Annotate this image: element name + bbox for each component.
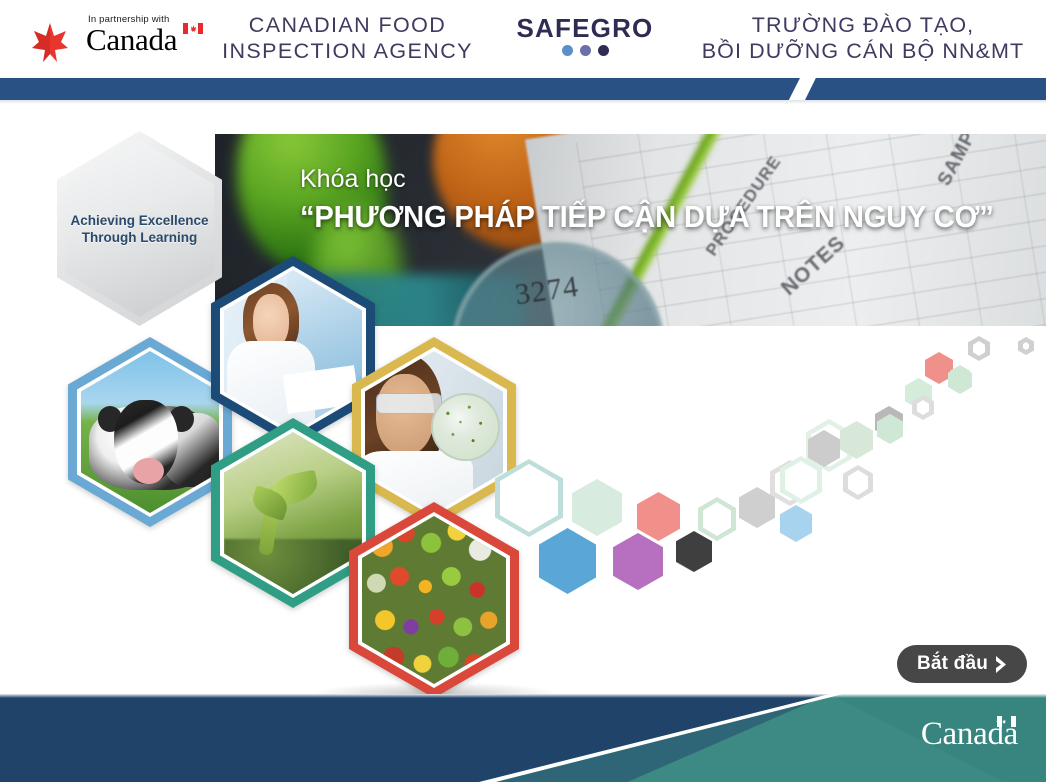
badge-inner: Achieving Excellence Through Learning — [65, 140, 214, 317]
start-button-label: Bắt đầu — [917, 653, 988, 675]
badge-line1: Achieving Excellence — [70, 212, 208, 229]
page-header: In partnership with Canada CANADIAN FOOD… — [0, 0, 1046, 78]
vietnam-partner-title: TRƯỜNG ĐÀO TẠO, BỒI DƯỠNG CÁN BỘ NN&MT — [680, 12, 1046, 64]
hex-dairy-cattle — [68, 337, 232, 527]
decor-hexagon — [912, 395, 934, 420]
canada-flag-icon-footer — [997, 716, 1016, 727]
hero-title-block: Khóa học “PHƯƠNG PHÁP TIẾP CẬN DỰA TRÊN … — [300, 164, 1040, 236]
decor-hexagon — [968, 336, 990, 361]
decor-hexagon — [698, 497, 736, 541]
course-title-slide: In partnership with Canada CANADIAN FOOD… — [0, 0, 1046, 782]
ribbon-left-segment — [0, 78, 800, 100]
decor-hexagon — [780, 505, 812, 542]
decor-hexagon — [613, 533, 663, 590]
hex-lab-scientist — [352, 337, 516, 527]
decor-hexagon — [539, 528, 596, 594]
badge-line2: Through Learning — [70, 229, 208, 246]
ribbon-right-segment — [805, 78, 1046, 100]
canada-wordmark-header: Canada — [86, 24, 177, 55]
canada-partnership-logo: In partnership with Canada — [28, 12, 203, 64]
course-kicker: Khóa học — [300, 164, 1040, 194]
hex-fresh-produce — [349, 502, 519, 694]
badge-text: Achieving Excellence Through Learning — [70, 212, 208, 246]
achieving-excellence-badge: Achieving Excellence Through Learning — [57, 131, 222, 326]
vietnam-title-line1: TRƯỜNG ĐÀO TẠO, — [680, 12, 1046, 38]
decor-hexagon — [1018, 337, 1034, 355]
cfia-title-line1: CANADIAN FOOD — [195, 12, 500, 38]
cfia-title-line2: INSPECTION AGENCY — [195, 38, 500, 64]
decor-hexagon — [637, 492, 680, 541]
decor-hexagon — [843, 465, 873, 500]
safegro-dot-1 — [562, 45, 573, 56]
page-footer: Canada — [0, 694, 1046, 782]
safegro-dots — [500, 45, 670, 56]
footer-top-highlight — [0, 694, 1046, 698]
safegro-logo: SAFEGRO — [500, 14, 670, 56]
maple-leaf-icon — [28, 20, 72, 64]
course-title: “PHƯƠNG PHÁP TIẾP CẬN DỰA TRÊN NGUY CƠ” — [300, 198, 996, 236]
safegro-label: SAFEGRO — [500, 14, 670, 42]
decor-hexagon — [495, 459, 563, 537]
safegro-dot-2 — [580, 45, 591, 56]
slide-body: SAMPLING PROCEDURE NOTES 3274 Khóa học “… — [0, 104, 1046, 694]
decor-hexagon — [572, 479, 622, 536]
cfia-title: CANADIAN FOOD INSPECTION AGENCY — [195, 12, 500, 64]
header-accent-ribbon — [0, 78, 1046, 104]
vietnam-title-line2: BỒI DƯỠNG CÁN BỘ NN&MT — [680, 38, 1046, 64]
start-button[interactable]: Bắt đầu — [897, 645, 1027, 683]
chevron-right-icon — [995, 656, 1007, 673]
safegro-dot-3 — [598, 45, 609, 56]
